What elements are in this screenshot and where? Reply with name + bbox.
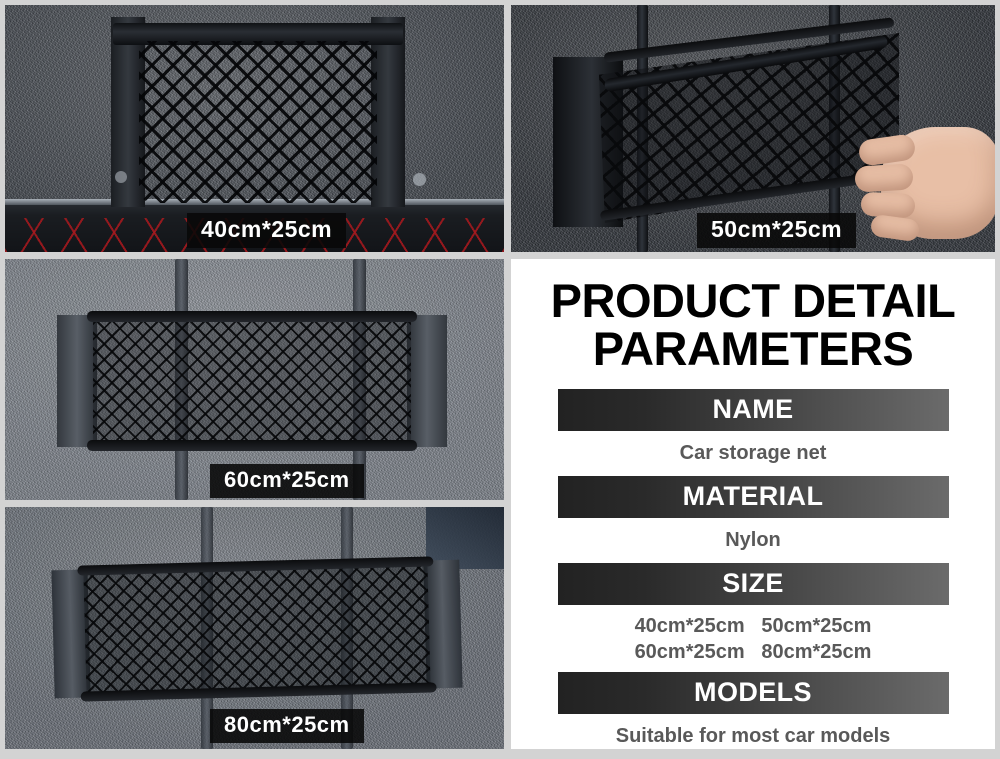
finger-ring [860,192,915,219]
trunk-fastener-right [413,173,426,186]
product-photo-80cm: 80cm*25cm [5,507,504,749]
net-side-strap-left [57,315,97,447]
title-line-2: PARAMETERS [551,325,956,373]
product-photo-40cm: 40cm*25cm [5,5,504,252]
param-value-size-line-2: 60cm*25cm 80cm*25cm [635,639,872,665]
finger-middle [854,164,913,193]
size-caption-40cm: 40cm*25cm [187,213,346,248]
param-value-name: Car storage net [680,431,827,476]
storage-net-40cm [113,17,403,207]
param-label-models: MODELS [558,672,949,714]
size-caption-50cm: 50cm*25cm [697,213,856,248]
param-label-material: MATERIAL [558,476,949,518]
product-photo-60cm: 60cm*25cm [5,259,504,500]
param-value-size: 40cm*25cm 50cm*25cm 60cm*25cm 80cm*25cm [635,605,872,672]
param-value-models: Suitable for most car models [616,714,891,759]
net-mesh [83,565,430,694]
net-side-strap-right [407,315,447,447]
param-label-size: SIZE [558,563,949,605]
param-label-name: NAME [558,389,949,431]
storage-net-80cm [51,560,462,699]
parameters-title: PRODUCT DETAIL PARAMETERS [551,277,956,373]
param-value-size-line-1: 40cm*25cm 50cm*25cm [635,613,872,639]
size-caption-80cm: 80cm*25cm [210,709,364,743]
net-top-edge [87,311,417,322]
size-caption-60cm: 60cm*25cm [210,464,364,498]
net-mesh [93,319,411,443]
trunk-fastener-left [115,171,127,183]
storage-net-60cm [57,315,447,447]
product-photo-50cm: 50cm*25cm [511,5,995,252]
title-line-1: PRODUCT DETAIL [551,277,956,325]
net-mesh [139,41,377,203]
product-parameters-panel: PRODUCT DETAIL PARAMETERS NAME Car stora… [511,259,995,749]
param-value-material: Nylon [725,518,781,563]
parameters-rows: NAME Car storage net MATERIAL Nylon SIZE… [511,389,995,759]
product-detail-sheet: 40cm*25cm 50cm*25cm [0,0,1000,754]
net-bottom-edge [87,440,417,451]
